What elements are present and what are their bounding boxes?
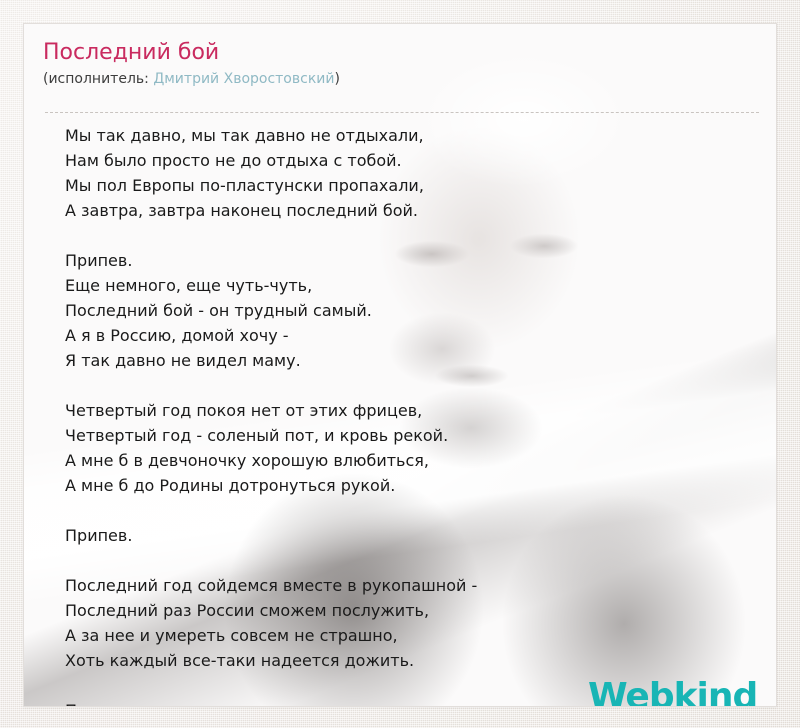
lyric-line-blank xyxy=(65,498,752,523)
lyric-line: Четвертый год покоя нет от этих фрицев, xyxy=(65,398,752,423)
lyric-line-blank xyxy=(65,548,752,573)
header-divider xyxy=(45,112,759,113)
lyric-line: Последний раз России сможем послужить, xyxy=(65,598,752,623)
song-header: Последний бой (исполнитель: Дмитрий Хвор… xyxy=(43,40,760,88)
lyric-line: Мы пол Европы по-пластунски пропахали, xyxy=(65,173,752,198)
page-background: Последний бой (исполнитель: Дмитрий Хвор… xyxy=(0,0,800,728)
page-title: Последний бой xyxy=(43,40,760,66)
lyric-line: Я так давно не видел маму. xyxy=(65,348,752,373)
artist-link[interactable]: Дмитрий Хворостовский xyxy=(153,71,334,87)
lyric-line: А за нее и умереть совсем не страшно, xyxy=(65,623,752,648)
lyric-line: Мы так давно, мы так давно не отдыхали, xyxy=(65,123,752,148)
site-logo-watermark: Webkind.Ru тексты песен xyxy=(588,679,777,707)
lyric-line: А завтра, завтра наконец последний бой. xyxy=(65,198,752,223)
performer-suffix-label: ) xyxy=(334,71,339,87)
lyric-line: А мне б до Родины дотронуться рукой. xyxy=(65,473,752,498)
performer-line: (исполнитель: Дмитрий Хворостовский) xyxy=(43,70,760,88)
lyric-line-blank xyxy=(65,373,752,398)
lyric-line: Нам было просто не до отдыха с тобой. xyxy=(65,148,752,173)
lyric-line: Последний бой - он трудный самый. xyxy=(65,298,752,323)
lyric-line: Последний год сойдемся вместе в рукопашн… xyxy=(65,573,752,598)
lyrics-text: Мы так давно, мы так давно не отдыхали,Н… xyxy=(65,123,752,707)
lyric-line: Припев. xyxy=(65,523,752,548)
logo-wordmark: Webkind xyxy=(588,679,757,707)
lyric-line: Припев. xyxy=(65,248,752,273)
lyric-line: А я в Россию, домой хочу - xyxy=(65,323,752,348)
performer-prefix-label: (исполнитель: xyxy=(43,71,153,87)
lyric-line: Четвертый год - соленый пот, и кровь рек… xyxy=(65,423,752,448)
lyric-line: А мне б в девчоночку хорошую влюбиться, xyxy=(65,448,752,473)
lyric-line-blank xyxy=(65,223,752,248)
song-content-card: Последний бой (исполнитель: Дмитрий Хвор… xyxy=(23,23,777,707)
lyric-line: Хоть каждый все-таки надеется дожить. xyxy=(65,648,752,673)
lyric-line: Еще немного, еще чуть-чуть, xyxy=(65,273,752,298)
